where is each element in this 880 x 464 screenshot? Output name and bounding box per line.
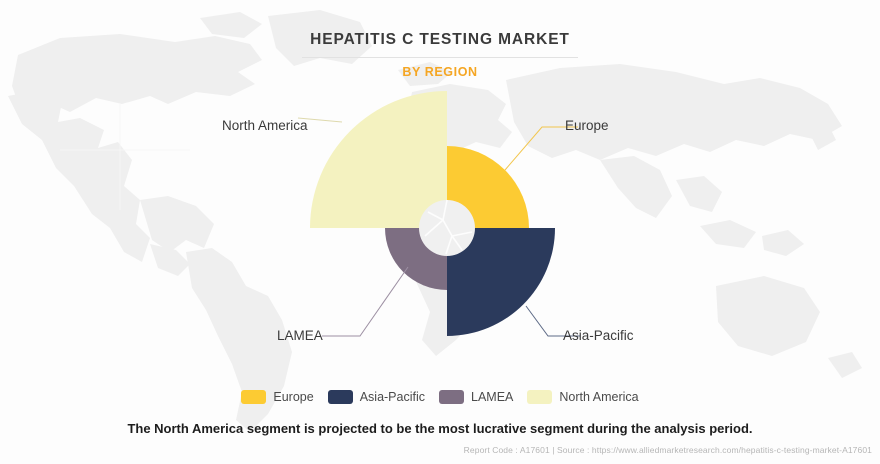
leader-line-europe: [505, 127, 578, 170]
legend-item-north-america: North America: [527, 390, 638, 404]
legend-label-north-america: North America: [559, 390, 638, 404]
legend-item-europe: Europe: [241, 390, 313, 404]
region-pie-chart: [280, 70, 600, 360]
label-lamea: LAMEA: [277, 328, 323, 343]
legend-label-lamea: LAMEA: [471, 390, 513, 404]
legend-label-europe: Europe: [273, 390, 313, 404]
report-credit: Report Code : A17601 | Source : https://…: [464, 445, 872, 455]
legend-label-asia-pacific: Asia-Pacific: [360, 390, 425, 404]
title-divider: [302, 57, 578, 58]
label-europe: Europe: [565, 118, 609, 133]
chart-page: HEPATITIS C TESTING MARKET BY REGION: [0, 0, 880, 464]
legend-swatch-north-america: [527, 390, 552, 404]
legend-swatch-lamea: [439, 390, 464, 404]
label-asia-pacific: Asia-Pacific: [563, 328, 634, 343]
pie-slice-north-america: [310, 91, 447, 228]
chart-footnote: The North America segment is projected t…: [0, 421, 880, 436]
legend-swatch-asia-pacific: [328, 390, 353, 404]
chart-legend: Europe Asia-Pacific LAMEA North America: [0, 390, 880, 404]
label-north-america: North America: [222, 118, 308, 133]
legend-item-lamea: LAMEA: [439, 390, 513, 404]
legend-item-asia-pacific: Asia-Pacific: [328, 390, 425, 404]
leader-line-lamea: [322, 267, 408, 336]
legend-swatch-europe: [241, 390, 266, 404]
chart-title: HEPATITIS C TESTING MARKET: [0, 31, 880, 49]
